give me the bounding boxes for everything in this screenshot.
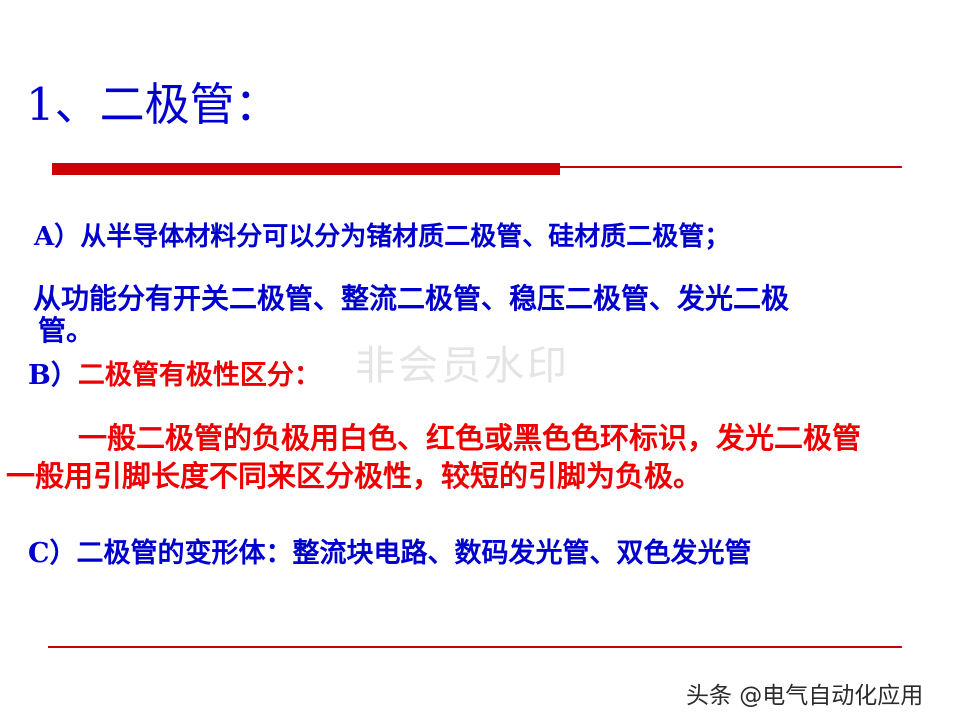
list-item-b-text: 二极管有极性区分：	[78, 360, 321, 391]
title-divider-thick	[52, 163, 560, 175]
page-title: 1、二极管：	[26, 79, 280, 131]
list-item-b: B）二极管有极性区分：	[28, 358, 321, 393]
slide-canvas: 1、二极管： 非会员水印 A）从半导体材料分可以分为锗材质二极管、硅材质二极管；…	[0, 0, 960, 720]
list-item-c-text: 二极管的变形体：整流块电路、数码发光管、双色发光管	[77, 538, 752, 569]
list-item-a-marker: A）	[34, 222, 80, 252]
list-item-b-marker: B）	[28, 360, 78, 391]
footer-divider	[48, 646, 902, 648]
list-item-b-detail-1: 一般二极管的负极用白色、红色或黑色色环标识，发光二极管	[78, 420, 861, 457]
list-item-a-continuation-2: 管。	[38, 313, 94, 349]
list-item-c: C）二极管的变形体：整流块电路、数码发光管、双色发光管	[28, 536, 752, 571]
list-item-a-continuation-1: 从功能分有开关二极管、整流二极管、稳压二极管、发光二极	[33, 281, 789, 317]
list-item-a: A）从半导体材料分可以分为锗材质二极管、硅材质二极管；	[34, 220, 730, 254]
list-item-a-text: 从半导体材料分可以分为锗材质二极管、硅材质二极管；	[80, 222, 730, 252]
watermark-text: 非会员水印	[355, 333, 570, 391]
title-divider-thin	[560, 166, 902, 168]
list-item-c-marker: C）	[28, 538, 77, 569]
footer-handle: 头条 @电气自动化应用	[686, 676, 923, 710]
list-item-b-detail-2: 一般用引脚长度不同来区分极性，较短的引脚为负极。	[6, 458, 702, 495]
